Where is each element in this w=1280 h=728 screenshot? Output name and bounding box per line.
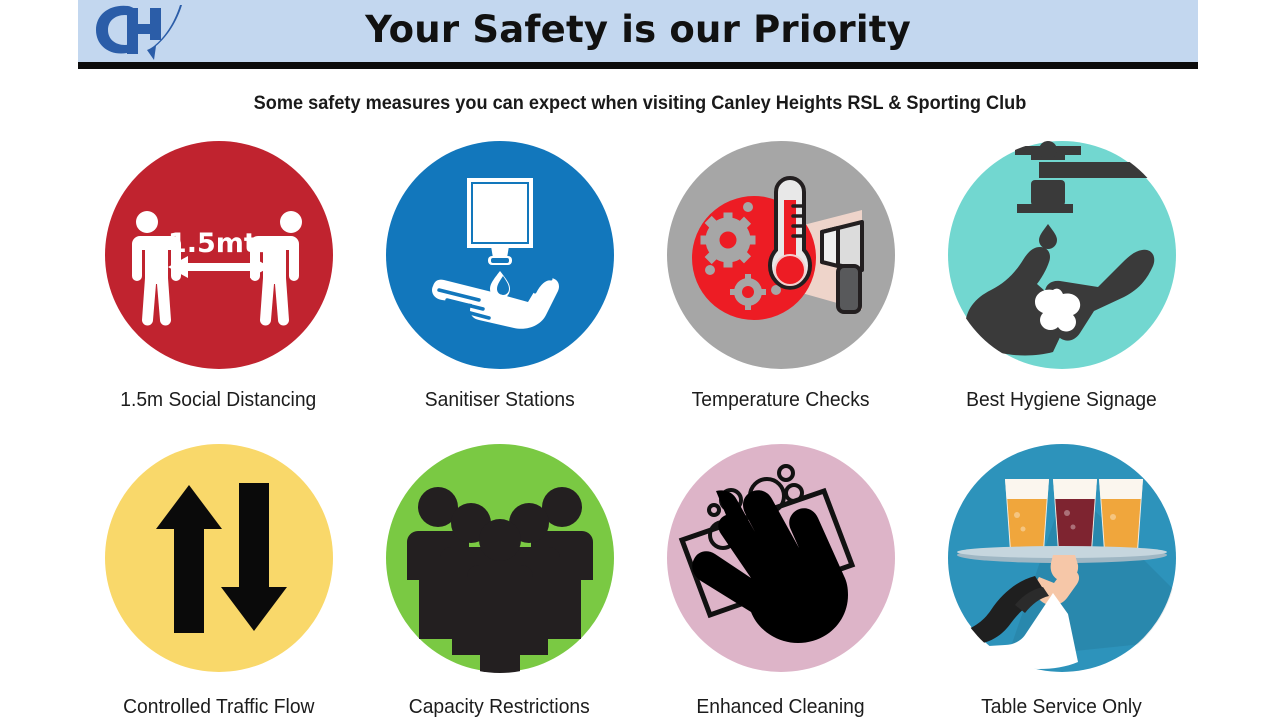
measure-label: 1.5m Social Distancing [120,388,316,412]
header-underline-bar [78,62,1198,69]
measure-item-enhanced-cleaning: Enhanced Cleaning [640,443,921,728]
measure-item-table-service-only: Table Service Only [921,443,1202,728]
subtitle-text: Some safety measures you can expect when… [45,92,1235,115]
measures-row-2: Controlled Traffic Flow [78,443,1202,728]
measure-item-temperature-checks: Temperature Checks [640,140,921,425]
page-title: Your Safety is our Priority [78,0,1198,62]
measure-label: Sanitiser Stations [425,388,575,412]
safety-measures-grid: 1.5mtr 1.5m Social Distancing [78,140,1202,720]
measure-label: Controlled Traffic Flow [123,695,314,719]
measure-item-social-distancing: 1.5mtr 1.5m Social Distancing [78,140,359,425]
group-of-people-icon [385,443,615,673]
measure-item-capacity-restrictions: Capacity Restrictions [359,443,640,728]
measures-row-1: 1.5mtr 1.5m Social Distancing [78,140,1202,425]
temperature-check-icon [666,140,896,370]
header-banner: Your Safety is our Priority [78,0,1198,62]
measure-label: Enhanced Cleaning [696,695,864,719]
measure-label: Best Hygiene Signage [966,388,1157,412]
hand-wiping-cloth-icon [666,443,896,673]
measure-item-best-hygiene-signage: Best Hygiene Signage [921,140,1202,425]
social-distancing-icon: 1.5mtr [104,140,334,370]
measure-item-controlled-traffic-flow: Controlled Traffic Flow [78,443,359,728]
measure-label: Capacity Restrictions [409,695,590,719]
measure-label: Temperature Checks [692,388,870,412]
measure-label: Table Service Only [981,695,1142,719]
measure-item-sanitiser-stations: Sanitiser Stations [359,140,640,425]
two-way-arrows-icon [104,443,334,673]
handwashing-tap-icon [947,140,1177,370]
waiter-tray-drinks-icon [947,443,1177,673]
hand-sanitiser-icon [385,140,615,370]
distance-text: 1.5mtr [167,228,270,259]
